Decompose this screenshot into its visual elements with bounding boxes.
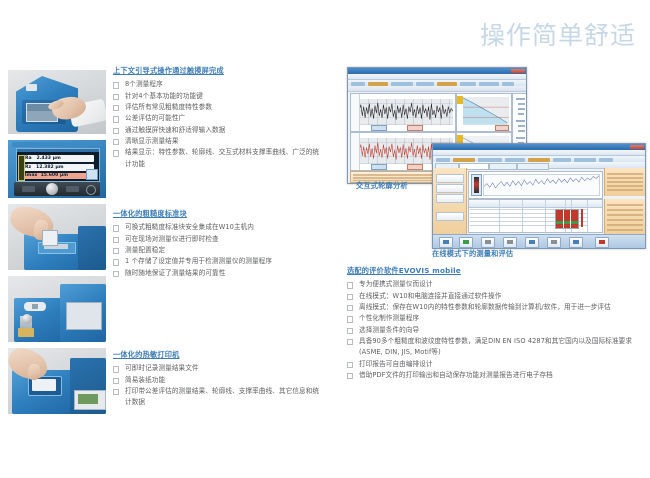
command-button[interactable]	[569, 237, 583, 248]
list-item: 测量配置稳定	[113, 245, 321, 256]
list-item: 借助PDF文件的打印输出和自动保存功能对测量报告进行电子存档	[347, 370, 637, 381]
list-item: 1 个存储了设定值并专用于检测测量仪的测量程序	[113, 256, 321, 267]
sidebar-navigation[interactable]	[433, 168, 467, 235]
list-item: 8个测量程序	[113, 79, 321, 90]
caption-interactive-profile-analysis: 交互式轮廓分析	[356, 181, 408, 191]
trace-line	[359, 99, 453, 123]
list-item: 可在现场对测量仪进行即时检查	[113, 234, 321, 245]
list-item: 打印带公差评估的测量结果、轮廓线、支撑率曲线、其它信息和统计数据	[113, 386, 321, 409]
list-item: 专为便携式测量仪而设计	[347, 279, 637, 290]
abbott-curve	[463, 97, 509, 125]
section-evovis-software: 选配的评价软件EVOVIS mobile 专为便携式测量仪而设计 在线模式：W1…	[347, 266, 637, 381]
display-row-1: Rz 12.382 µm	[25, 166, 64, 171]
list-item: 针对4个基本功能的功能键	[113, 91, 321, 102]
photo-roughness-standard-insert	[8, 204, 106, 270]
command-button[interactable]	[503, 237, 517, 248]
feature-list: 专为便携式测量仪而设计 在线模式：W10和电脑连接并直接通过软件操作 离线模式：…	[347, 279, 637, 381]
window-subtoolbar[interactable]	[348, 86, 526, 92]
list-item: 简易装纸功能	[113, 375, 321, 386]
list-item: 打印报告可自由编排设计	[347, 359, 637, 370]
list-item: 结果显示：特性参数、轮廓线、交互式材料支撑率曲线、广泛的统计功能	[113, 147, 321, 170]
photo-integrated-roughness-standard	[8, 276, 106, 342]
section-roughness-standard: 一体化的粗糙度标准块 可换式粗糙度标准块安全集成在W10主机内 可在现场对测量仪…	[113, 209, 321, 279]
section-heading: 一体化的热敏打印机	[113, 350, 321, 359]
list-item: 可换式粗糙度标准块安全集成在W10主机内	[113, 222, 321, 233]
chart-profile-online	[468, 171, 603, 199]
window-titlebar	[433, 144, 645, 150]
feature-list: 可即时记录测量结果文件 简易装纸功能 打印带公差评估的测量结果、轮廓线、支撑率曲…	[113, 363, 321, 408]
command-button[interactable]	[439, 237, 453, 248]
photo-column: Ra 2.433 µm Rz 12.382 µm Rmax 15.600 µm	[8, 70, 106, 420]
list-item: 在线模式：W10和电脑连接并直接通过软件操作	[347, 291, 637, 302]
list-item: 随时随地保证了测量结果的可靠性	[113, 268, 321, 279]
section-heading: 选配的评价软件EVOVIS mobile	[347, 266, 637, 275]
section-touchscreen-operation: 上下文引导式操作通过触摸屏完成 8个测量程序 针对4个基本功能的功能键 评估所有…	[113, 66, 321, 170]
feature-list: 可换式粗糙度标准块安全集成在W10主机内 可在现场对测量仪进行即时检查 测量配置…	[113, 222, 321, 279]
photo-device-display-closeup: Ra 2.433 µm Rz 12.382 µm Rmax 15.600 µm	[8, 140, 106, 198]
photo-device-touchscreen-operation	[8, 70, 106, 134]
chart-profile-primary	[350, 93, 456, 132]
measurement-info-panel	[604, 168, 645, 196]
command-button[interactable]	[595, 237, 609, 248]
section-heading: 一体化的粗糙度标准块	[113, 209, 321, 218]
display-row-0: Ra 2.433 µm	[25, 157, 61, 162]
parameter-info-panel	[604, 199, 645, 235]
section-thermal-printer: 一体化的热敏打印机 可即时记录测量结果文件 简易装纸功能 打印带公差评估的测量结…	[113, 350, 321, 409]
command-button[interactable]	[459, 237, 473, 248]
sidebar-button[interactable]	[436, 194, 464, 203]
command-button[interactable]	[547, 237, 561, 248]
display-row-2: Rmax 15.600 µm	[23, 174, 68, 179]
list-item: 评估所有常见粗糙度特性参数	[113, 102, 321, 113]
command-button[interactable]	[525, 237, 539, 248]
section-heading: 上下文引导式操作通过触摸屏完成	[113, 66, 321, 75]
list-item: 选择测量条件的向导	[347, 325, 637, 336]
caption-online-measurement: 在线模式下的测量和评估	[432, 249, 513, 259]
feature-list: 8个测量程序 针对4个基本功能的功能键 评估所有常见粗糙度特性参数 公差评估的可…	[113, 79, 321, 170]
list-item: 通过触摸屏快速和舒适得输入数据	[113, 125, 321, 136]
list-item: 可即时记录测量结果文件	[113, 363, 321, 374]
command-button[interactable]	[481, 237, 495, 248]
window-controls[interactable]	[511, 69, 525, 73]
sidebar-button[interactable]	[436, 212, 464, 221]
sidebar-button[interactable]	[436, 174, 464, 183]
window-titlebar	[348, 68, 526, 74]
results-table[interactable]	[468, 199, 603, 233]
list-item: 公差评估的可能性广	[113, 113, 321, 124]
photo-thermal-printer-paper	[8, 348, 106, 414]
list-item: 具备90多个粗糙度和波纹度特性参数，满足DIN EN ISO 4287和其它国内…	[347, 336, 637, 359]
table-header	[469, 200, 602, 208]
online-trace	[484, 175, 599, 191]
sidebar-button[interactable]	[436, 184, 464, 193]
tolerance-grid	[555, 209, 579, 229]
list-item: 离线模式：保存在W10内的特性参数和轮廓数据传输到计算机/软件，用于进一步评估	[347, 302, 637, 313]
command-bar[interactable]	[433, 234, 645, 248]
list-item: 个性化制作测量程序	[347, 313, 637, 324]
chart-material-ratio	[456, 93, 512, 132]
window-controls[interactable]	[630, 145, 644, 149]
page-title: 操作简单舒适	[480, 16, 636, 52]
screenshot-online-measurement	[432, 143, 644, 247]
list-item: 清晰显示测量结果	[113, 136, 321, 147]
